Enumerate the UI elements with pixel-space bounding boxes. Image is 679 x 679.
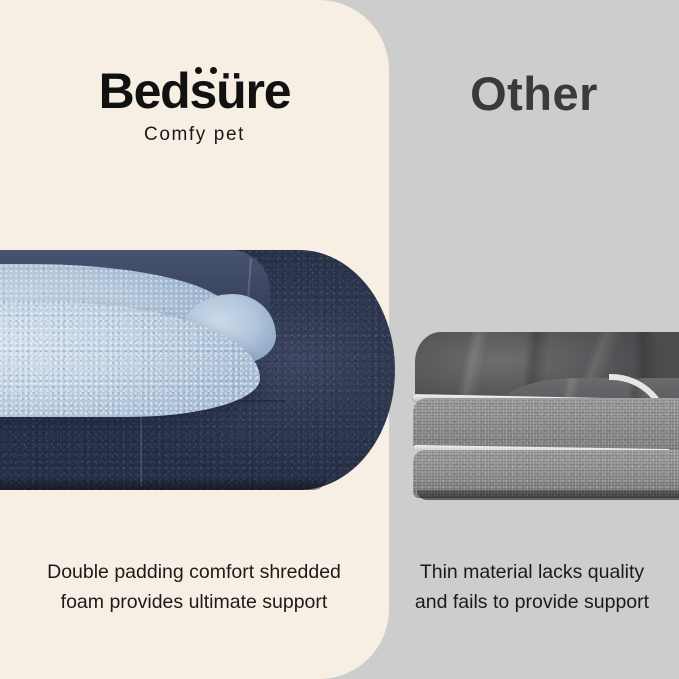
bedsure-caption-line-2: foam provides ultimate support [8, 587, 380, 617]
brand-tagline: Comfy pet [0, 124, 389, 146]
brand-lockup: Bedsüre Comfy pet [0, 66, 389, 146]
navy-bottom-shadow [0, 478, 326, 490]
other-caption: Thin material lacks quality and fails to… [389, 557, 675, 617]
gray-bottom-shadow [417, 490, 679, 500]
other-heading: Other [389, 70, 679, 117]
bedsure-caption: Double padding comfort shredded foam pro… [8, 557, 380, 617]
wordmark-text: Bedsüre [99, 63, 291, 119]
gray-upper-wall [413, 398, 679, 450]
other-dog-bed-image [413, 332, 679, 504]
gray-linen-texture-upper [413, 398, 679, 450]
other-caption-line-2: and fails to provide support [389, 587, 675, 617]
bedsure-dog-bed-image [0, 250, 395, 490]
bedsure-wordmark: Bedsüre [99, 66, 291, 116]
other-caption-line-1: Thin material lacks quality [389, 557, 675, 587]
product-comparison-infographic: Bedsüre Comfy pet Other [0, 0, 679, 679]
bedsure-caption-line-1: Double padding comfort shredded [8, 557, 380, 587]
